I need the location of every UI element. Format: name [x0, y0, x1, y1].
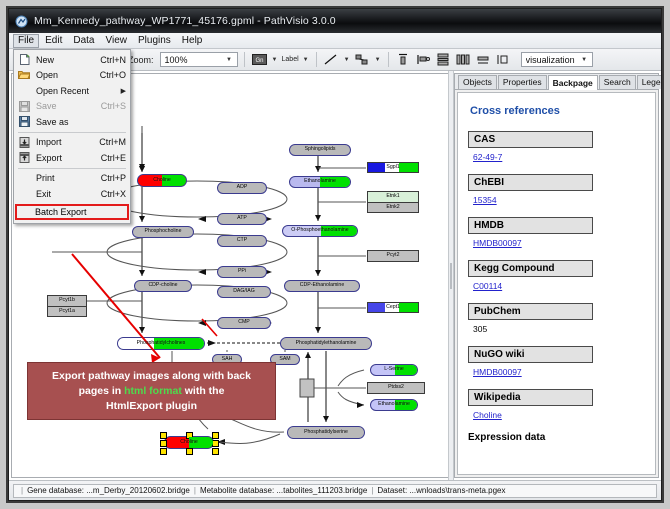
node-label: ATP [237, 216, 247, 221]
visualization-value: visualization [526, 55, 579, 65]
menu-plugins[interactable]: Plugins [133, 34, 176, 48]
node-label: PPi [238, 269, 246, 274]
node-label: Pcyt1b [59, 298, 75, 303]
xref-link-kegg[interactable]: C00114 [473, 281, 502, 291]
line-chevron-down-icon[interactable]: ▼ [343, 57, 351, 63]
node-label: O-Phosphoethanolamine [291, 228, 348, 233]
splitter-grip [450, 263, 452, 289]
screenshot-root: Mm_Kennedy_pathway_WP1771_45176.gpml - P… [0, 0, 670, 509]
callout-text: Export pathway images along with back pa… [46, 369, 257, 414]
callout-line2-a: pages in [79, 385, 125, 397]
node-label: Etnk1 [386, 194, 399, 199]
tab-backpage[interactable]: Backpage [548, 75, 598, 90]
menu-item-save-label: Save [32, 101, 101, 111]
selection-handle[interactable] [212, 440, 219, 447]
distribute-horizontal-icon[interactable] [455, 52, 472, 68]
menu-view[interactable]: View [100, 34, 132, 48]
node-pcyt1b[interactable]: Pcyt1b [47, 295, 87, 306]
datanode-chevron-down-icon[interactable]: ▼ [271, 57, 279, 63]
node-label: Sgpl1 [386, 165, 399, 170]
callout-line1: Export pathway images along with back [52, 370, 251, 382]
callout-line2-b: with the [182, 385, 225, 397]
status-divider-3: | [371, 486, 373, 495]
selection-handle[interactable] [186, 448, 193, 455]
pathvisio-app-icon [15, 15, 28, 28]
menu-item-open-recent-label: Open Recent [32, 86, 117, 96]
title-bar: Mm_Kennedy_pathway_WP1771_45176.gpml - P… [9, 9, 661, 33]
node-sgpl1[interactable]: Sgpl1 [367, 162, 419, 173]
zoom-combo[interactable]: 100% ▼ [160, 52, 238, 67]
line-icon[interactable] [323, 52, 340, 68]
visualization-combo[interactable]: visualization ▼ [521, 52, 593, 67]
interaction-chevron-down-icon[interactable]: ▼ [374, 57, 382, 63]
menu-separator-2 [18, 168, 126, 169]
menu-help[interactable]: Help [177, 34, 208, 48]
node-label: SAM [279, 357, 290, 362]
node-ctp[interactable]: CTP [217, 235, 267, 247]
menu-item-export[interactable]: Export Ctrl+E [14, 150, 130, 166]
menu-item-import-accel: Ctrl+M [99, 137, 126, 147]
zoom-value: 100% [165, 55, 224, 65]
menu-item-save: Save Ctrl+S [14, 99, 130, 115]
distribute-vertical-icon[interactable] [435, 52, 452, 68]
menu-bar: File Edit Data View Plugins Help [9, 33, 661, 49]
menu-item-print[interactable]: Print Ctrl+P [14, 171, 130, 187]
node-dag-iag[interactable]: DAG/IAG [217, 286, 271, 298]
align-top-icon[interactable] [395, 52, 412, 68]
node-ppi[interactable]: PPi [217, 266, 267, 278]
node-phosphocholine[interactable]: Phosphocholine [132, 226, 194, 238]
xref-label-nugo: NuGO wiki [468, 346, 593, 363]
window-title: Mm_Kennedy_pathway_WP1771_45176.gpml - P… [34, 15, 336, 27]
xref-value-kegg: C00114 [473, 281, 647, 291]
menu-item-exit[interactable]: Exit Ctrl+X [14, 186, 130, 202]
xref-label-chebi: ChEBI [468, 174, 593, 191]
status-text: | Gene database: ...m_Derby_20120602.bri… [13, 484, 657, 498]
node-label: Etnk2 [386, 205, 399, 210]
node-label: CDP-Ethanolamine [300, 283, 344, 288]
menu-item-save-as[interactable]: Save as [14, 114, 130, 130]
node-cdp-ethanolamine[interactable]: CDP-Ethanolamine [284, 280, 360, 292]
node-label: CDP-choline [148, 283, 177, 288]
pathvisio-window: Mm_Kennedy_pathway_WP1771_45176.gpml - P… [8, 8, 662, 501]
node-label: Choline [153, 178, 171, 183]
xref-value-wikipedia: Choline [473, 410, 647, 420]
save-as-disk-icon [16, 115, 32, 128]
node-label: Phosphatidylcholines [137, 341, 186, 346]
node-label: DAG/IAG [233, 289, 255, 294]
node-label: Phosphatidylserine [304, 430, 348, 435]
selection-handle[interactable] [212, 432, 219, 439]
menu-item-open-accel: Ctrl+O [100, 70, 126, 80]
selection-handle[interactable] [212, 448, 219, 455]
menu-item-batch-export-label: Batch Export [17, 207, 127, 217]
node-sphingolipids[interactable]: Sphingolipids [289, 144, 351, 156]
xref-label-wikipedia: Wikipedia [468, 389, 593, 406]
menu-item-print-accel: Ctrl+P [101, 173, 126, 183]
menu-item-open-label: Open [32, 70, 100, 80]
expression-data-heading: Expression data [468, 432, 647, 443]
align-left-icon[interactable] [415, 52, 432, 68]
node-phosphatidylserine[interactable]: Phosphatidylserine [287, 426, 365, 439]
node-label: Ethanolamine [378, 402, 410, 407]
xref-label-cas: CAS [468, 131, 593, 148]
node-label: Pcyt1a [59, 309, 75, 314]
menu-item-new-label: New [32, 55, 100, 65]
status-gene-database: Gene database: ...m_Derby_20120602.bridg… [27, 486, 190, 495]
node-ethanolamine-bottom[interactable]: Ethanolamine [370, 399, 418, 411]
blank-icon-2 [16, 172, 32, 185]
status-metabolite-database: Metabolite database: ...tabolites_111203… [200, 486, 367, 495]
menu-item-import[interactable]: Import Ctrl+M [14, 135, 130, 151]
callout-line3: HtmlExport plugin [106, 400, 197, 412]
node-label: L-Serine [384, 367, 404, 372]
xref-link-chebi[interactable]: 15354 [473, 195, 497, 205]
node-label: Pcyt2 [387, 253, 400, 258]
selected-node-wrapper: Choline [164, 436, 214, 449]
label-tool-label[interactable]: Label [282, 56, 299, 63]
same-width-icon[interactable] [475, 52, 492, 68]
xref-value-pubchem: 305 [473, 324, 647, 334]
node-label: Phosphocholine [145, 229, 182, 234]
xref-value-nugo: HMDB00097 [473, 367, 647, 377]
selection-handle[interactable] [160, 448, 167, 455]
node-label: CTP [237, 238, 247, 243]
node-etnk1[interactable]: Etnk1 [367, 191, 419, 202]
callout-box: Export pathway images along with back pa… [27, 362, 276, 420]
same-height-icon[interactable] [495, 52, 512, 68]
backpage-content: Cross references CAS 62-49-7 ChEBI 15354… [457, 92, 656, 475]
import-icon [16, 136, 32, 149]
open-folder-icon [16, 69, 32, 82]
menu-separator-1 [18, 132, 126, 133]
menu-item-export-accel: Ctrl+E [101, 153, 126, 163]
xref-value-cas: 62-49-7 [473, 152, 647, 162]
status-dataset: Dataset: ...wnloads\trans-meta.pgex [377, 486, 505, 495]
selection-handle[interactable] [160, 440, 167, 447]
node-cmp[interactable]: CMP [217, 317, 271, 329]
menu-item-open-recent[interactable]: Open Recent ▶ [14, 83, 130, 99]
xref-link-wikipedia[interactable]: Choline [473, 410, 502, 420]
node-ethanolamine-top[interactable]: Ethanolamine [289, 176, 351, 188]
export-icon [16, 151, 32, 164]
node-label: CMP [238, 320, 250, 325]
xref-label-hmdb: HMDB [468, 217, 593, 234]
label-chevron-down-icon[interactable]: ▼ [302, 57, 310, 63]
file-menu-dropdown[interactable]: New Ctrl+N Open Ctrl+O Open Recent ▶ Sav… [13, 49, 131, 224]
chevron-down-icon: ▼ [224, 57, 235, 63]
interaction-icon[interactable] [354, 52, 371, 68]
toolbar-divider-2 [316, 52, 317, 67]
node-label: Phosphatidylethanolamine [296, 341, 357, 346]
submenu-chevron-right-icon: ▶ [121, 87, 126, 95]
node-label: Ptdss2 [388, 385, 404, 390]
node-pcyt2[interactable]: Pcyt2 [367, 250, 419, 262]
tab-objects[interactable]: Objects [458, 75, 497, 89]
xref-label-kegg: Kegg Compound [468, 260, 593, 277]
menu-data[interactable]: Data [68, 34, 99, 48]
menu-item-new-accel: Ctrl+N [100, 55, 126, 65]
node-label: Cept1 [386, 305, 400, 310]
status-divider: | [21, 486, 23, 495]
node-l-serine[interactable]: L-Serine [370, 364, 418, 376]
menu-item-new[interactable]: New Ctrl+N [14, 52, 130, 68]
selection-handle[interactable] [160, 432, 167, 439]
menu-file[interactable]: File [13, 34, 39, 48]
menu-item-import-label: Import [32, 137, 99, 147]
datanode-icon[interactable]: Gn [251, 52, 268, 68]
node-label: Ethanolamine [304, 179, 336, 184]
tab-legend[interactable]: Legend [637, 75, 662, 89]
menu-item-batch-export[interactable]: Batch Export [15, 204, 129, 220]
blank-icon-3 [16, 187, 32, 200]
node-adp[interactable]: ADP [217, 182, 267, 194]
menu-item-export-label: Export [32, 153, 101, 163]
node-atp[interactable]: ATP [217, 213, 267, 225]
node-etnk2[interactable]: Etnk2 [367, 202, 419, 213]
node-choline-selected[interactable]: Choline [164, 436, 214, 449]
node-phosphatidylethanolamine[interactable]: Phosphatidylethanolamine [280, 337, 372, 350]
menu-edit[interactable]: Edit [40, 34, 67, 48]
blank-icon [16, 84, 32, 97]
menu-item-save-as-label: Save as [32, 117, 126, 127]
cross-references-heading: Cross references [470, 105, 647, 117]
node-o-phosphoethanolamine[interactable]: O-Phosphoethanolamine [282, 225, 358, 237]
side-panel: Objects Properties Backpage Search Legen… [454, 73, 659, 478]
xref-link-hmdb[interactable]: HMDB00097 [473, 238, 522, 248]
xref-value-chebi: 15354 [473, 195, 647, 205]
node-ptdss2[interactable]: Ptdss2 [367, 382, 425, 394]
xref-link-nugo[interactable]: HMDB00097 [473, 367, 522, 377]
svg-text:Gn: Gn [255, 58, 263, 64]
save-disk-icon [16, 100, 32, 113]
node-label: Sphingolipids [305, 147, 336, 152]
status-bar: | Gene database: ...m_Derby_20120602.bri… [9, 480, 661, 500]
toolbar-divider [244, 52, 245, 67]
xref-link-cas[interactable]: 62-49-7 [473, 152, 502, 162]
tab-search[interactable]: Search [599, 75, 636, 89]
xref-value-hmdb: HMDB00097 [473, 238, 647, 248]
menu-item-save-accel: Ctrl+S [101, 101, 126, 111]
menu-item-exit-label: Exit [32, 189, 101, 199]
side-panel-tabs: Objects Properties Backpage Search Legen… [455, 74, 658, 90]
new-document-icon [16, 53, 32, 66]
zoom-label: Zoom: [128, 55, 154, 65]
menu-item-exit-accel: Ctrl+X [101, 189, 126, 199]
toolbar-divider-3 [388, 52, 389, 67]
tab-properties[interactable]: Properties [498, 75, 547, 89]
node-pcyt1a[interactable]: Pcyt1a [47, 306, 87, 317]
menu-item-print-label: Print [32, 173, 101, 183]
status-divider-2: | [194, 486, 196, 495]
callout-highlight: html format [124, 385, 182, 397]
node-cept1[interactable]: Cept1 [367, 302, 419, 313]
node-cdp-choline[interactable]: CDP-choline [134, 280, 192, 292]
xref-label-pubchem: PubChem [468, 303, 593, 320]
node-choline[interactable]: Choline [137, 174, 187, 187]
node-label: ADP [237, 185, 248, 190]
node-label: Choline [180, 440, 198, 445]
node-phosphatidylcholines[interactable]: Phosphatidylcholines [117, 337, 205, 350]
visualization-chevron-down-icon: ▼ [579, 57, 590, 63]
menu-item-open[interactable]: Open Ctrl+O [14, 68, 130, 84]
